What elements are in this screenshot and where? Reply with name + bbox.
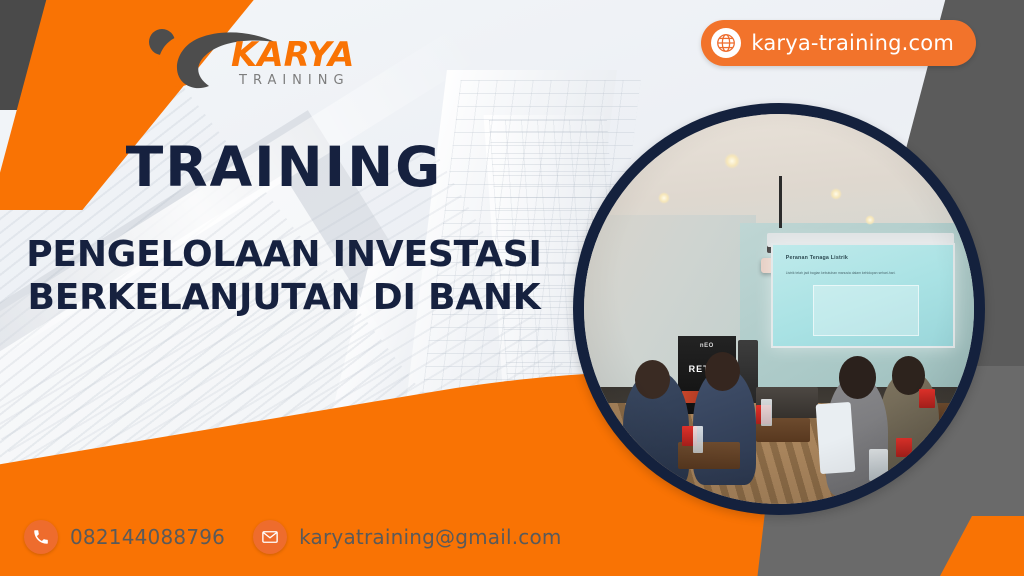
page-title-line-1: PENGELOLAAN INVESTASI <box>14 233 554 276</box>
contact-bar: 082144088796 karyatraining@gmail.com <box>24 520 562 554</box>
envelope-icon <box>253 520 287 554</box>
logo-tagline: TRAINING <box>238 73 350 88</box>
phone-number: 082144088796 <box>70 525 225 549</box>
globe-icon <box>711 28 741 58</box>
karya-training-logo[interactable]: KARYA TRAINING <box>135 22 370 94</box>
training-room-photo: Peranan Tenaga Listrik Listrik telah jad… <box>584 114 974 504</box>
contact-email[interactable]: karyatraining@gmail.com <box>253 520 562 554</box>
page-title: PENGELOLAAN INVESTASI BERKELANJUTAN DI B… <box>0 233 568 319</box>
page-title-line-2: BERKELANJUTAN DI BANK <box>14 276 554 319</box>
eyebrow-training: TRAINING <box>0 140 568 195</box>
training-poster: KARYA TRAINING karya-training.com TRAINI… <box>0 0 1024 576</box>
photo-circle-frame: Peranan Tenaga Listrik Listrik telah jad… <box>573 103 985 515</box>
logo-wordmark: KARYA <box>231 35 354 75</box>
contact-phone[interactable]: 082144088796 <box>24 520 225 554</box>
photo-vignette <box>584 114 974 504</box>
phone-icon <box>24 520 58 554</box>
heading-block: TRAINING PENGELOLAAN INVESTASI BERKELANJ… <box>0 140 568 319</box>
website-badge[interactable]: karya-training.com <box>701 20 976 66</box>
website-url-label: karya-training.com <box>751 31 954 55</box>
email-address: karyatraining@gmail.com <box>299 525 562 549</box>
